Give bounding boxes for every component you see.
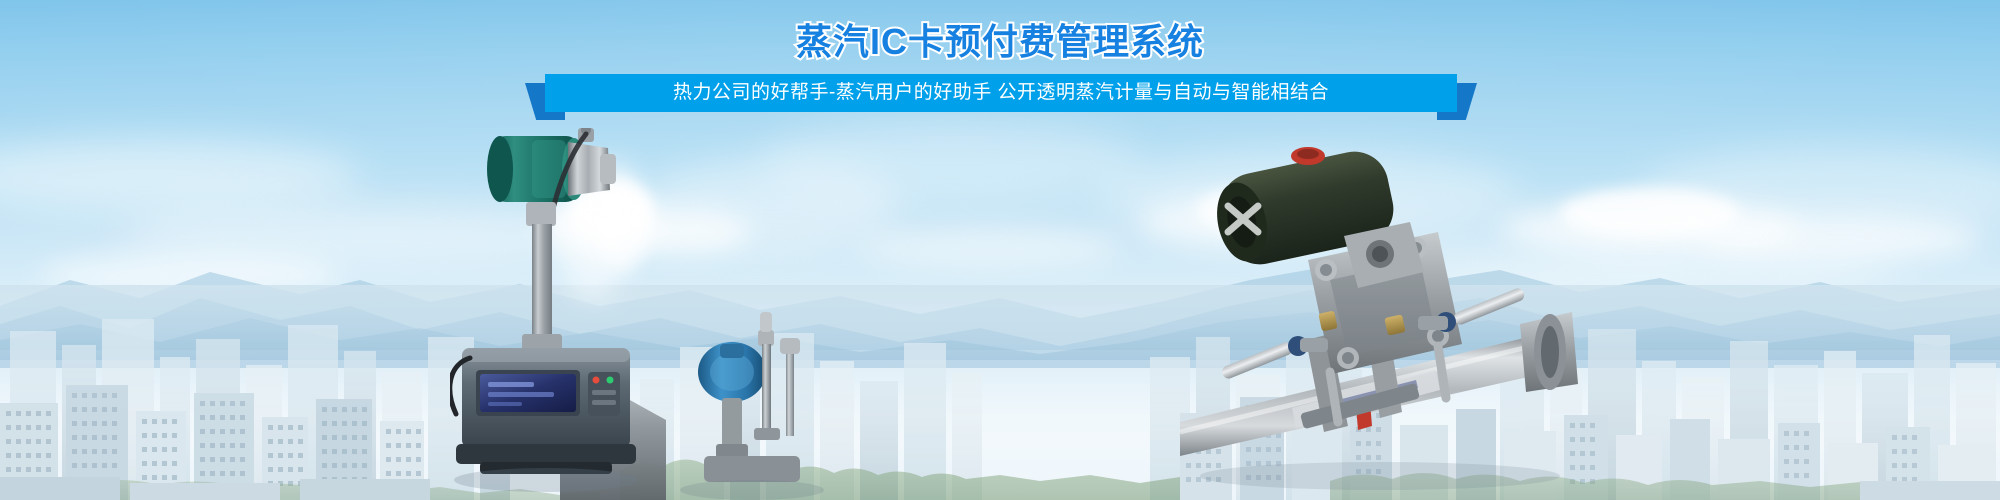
city-skyline: [0, 285, 2000, 500]
subtitle-ribbon: 热力公司的好帮手-蒸汽用户的好助手 公开透明蒸汽计量与自动与智能相结合: [0, 74, 2000, 120]
banner-root: 蒸汽IC卡预付费管理系统 热力公司的好帮手-蒸汽用户的好助手 公开透明蒸汽计量与…: [0, 0, 2000, 500]
temperature-pressure-sensor: [676, 300, 856, 500]
flowmeter-head: [487, 128, 616, 202]
ic-card-controller-display: [450, 318, 650, 500]
page-title: 蒸汽IC卡预付费管理系统: [0, 20, 2000, 64]
subtitle-text: 热力公司的好帮手-蒸汽用户的好助手 公开透明蒸汽计量与自动与智能相结合: [545, 74, 1457, 112]
differential-pressure-transmitter-assembly: [1180, 140, 1600, 500]
